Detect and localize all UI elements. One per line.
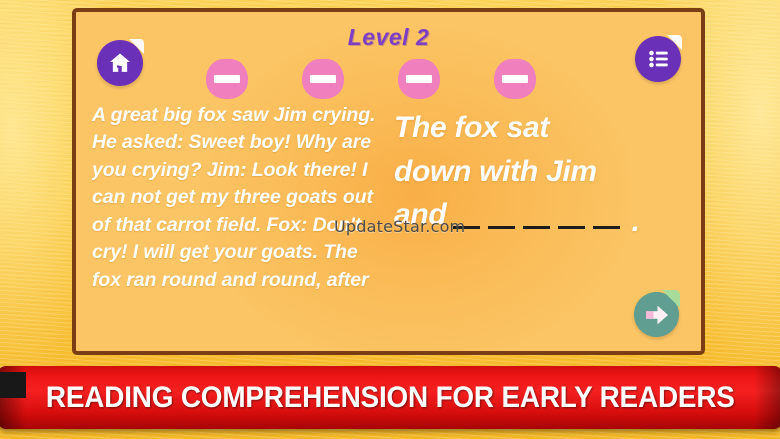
progress-badge-2[interactable]	[302, 59, 344, 99]
panel-content: Level 2	[76, 12, 701, 351]
menu-button[interactable]	[635, 36, 681, 82]
arrow-right-icon	[643, 302, 671, 328]
progress-badge-4[interactable]	[494, 59, 536, 99]
banner-shade-right	[754, 366, 780, 429]
banner-corner-shadow	[0, 372, 26, 398]
blank-slot[interactable]	[453, 226, 480, 229]
blank-slot[interactable]	[558, 226, 585, 229]
answer-row: and .	[394, 193, 694, 237]
blank-slot[interactable]	[488, 226, 515, 229]
question-punctuation: .	[631, 207, 639, 237]
blank-slot[interactable]	[593, 226, 620, 229]
answer-blanks[interactable]	[453, 226, 620, 229]
progress-badge-1[interactable]	[206, 59, 248, 99]
next-button[interactable]	[634, 292, 679, 337]
home-button[interactable]	[97, 40, 143, 86]
question-block: The fox sat down with Jim and .	[394, 106, 694, 237]
question-line-3-prefix: and	[394, 193, 446, 237]
game-panel: Level 2	[72, 8, 705, 355]
minus-icon	[214, 75, 240, 83]
progress-badge-3[interactable]	[398, 59, 440, 99]
banner-title: READING COMPREHENSION FOR EARLY READERS	[46, 381, 735, 415]
screenshot-root: Level 2	[0, 0, 780, 439]
minus-icon	[502, 75, 528, 83]
question-line-1: The fox sat	[394, 106, 694, 150]
story-passage: A great big fox saw Jim crying. He asked…	[92, 102, 382, 355]
page-title: Level 2	[76, 24, 701, 51]
blank-slot[interactable]	[523, 226, 550, 229]
question-line-2: down with Jim	[394, 150, 694, 194]
bottom-banner: READING COMPREHENSION FOR EARLY READERS	[0, 366, 780, 429]
list-document-icon	[645, 46, 671, 72]
home-icon	[107, 50, 133, 76]
minus-icon	[406, 75, 432, 83]
minus-icon	[310, 75, 336, 83]
